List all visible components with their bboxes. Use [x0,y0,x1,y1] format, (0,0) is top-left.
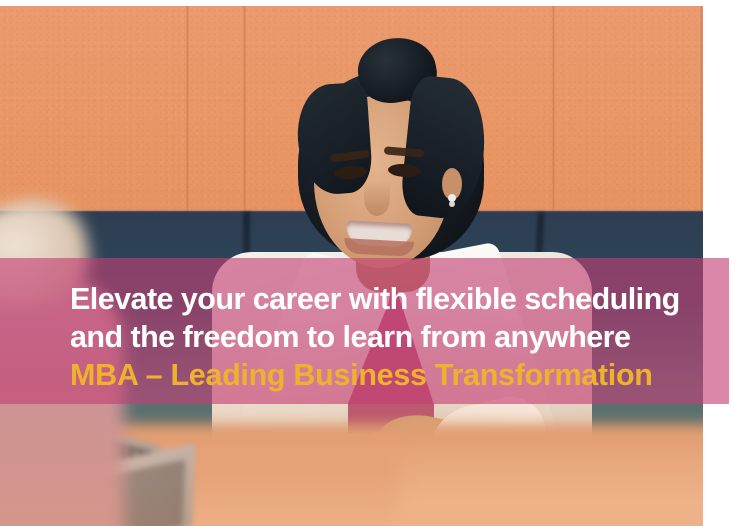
promo-banner: Elevate your career with flexible schedu… [0,0,732,526]
nose [364,180,390,216]
headline-line-2: and the freedom to learn from anywhere [70,318,729,356]
banner-text-block: Elevate your career with flexible schedu… [0,258,729,404]
headline-line-1: Elevate your career with flexible schedu… [70,280,729,318]
earring [448,194,456,202]
program-title: MBA – Leading Business Transformation [70,356,729,394]
